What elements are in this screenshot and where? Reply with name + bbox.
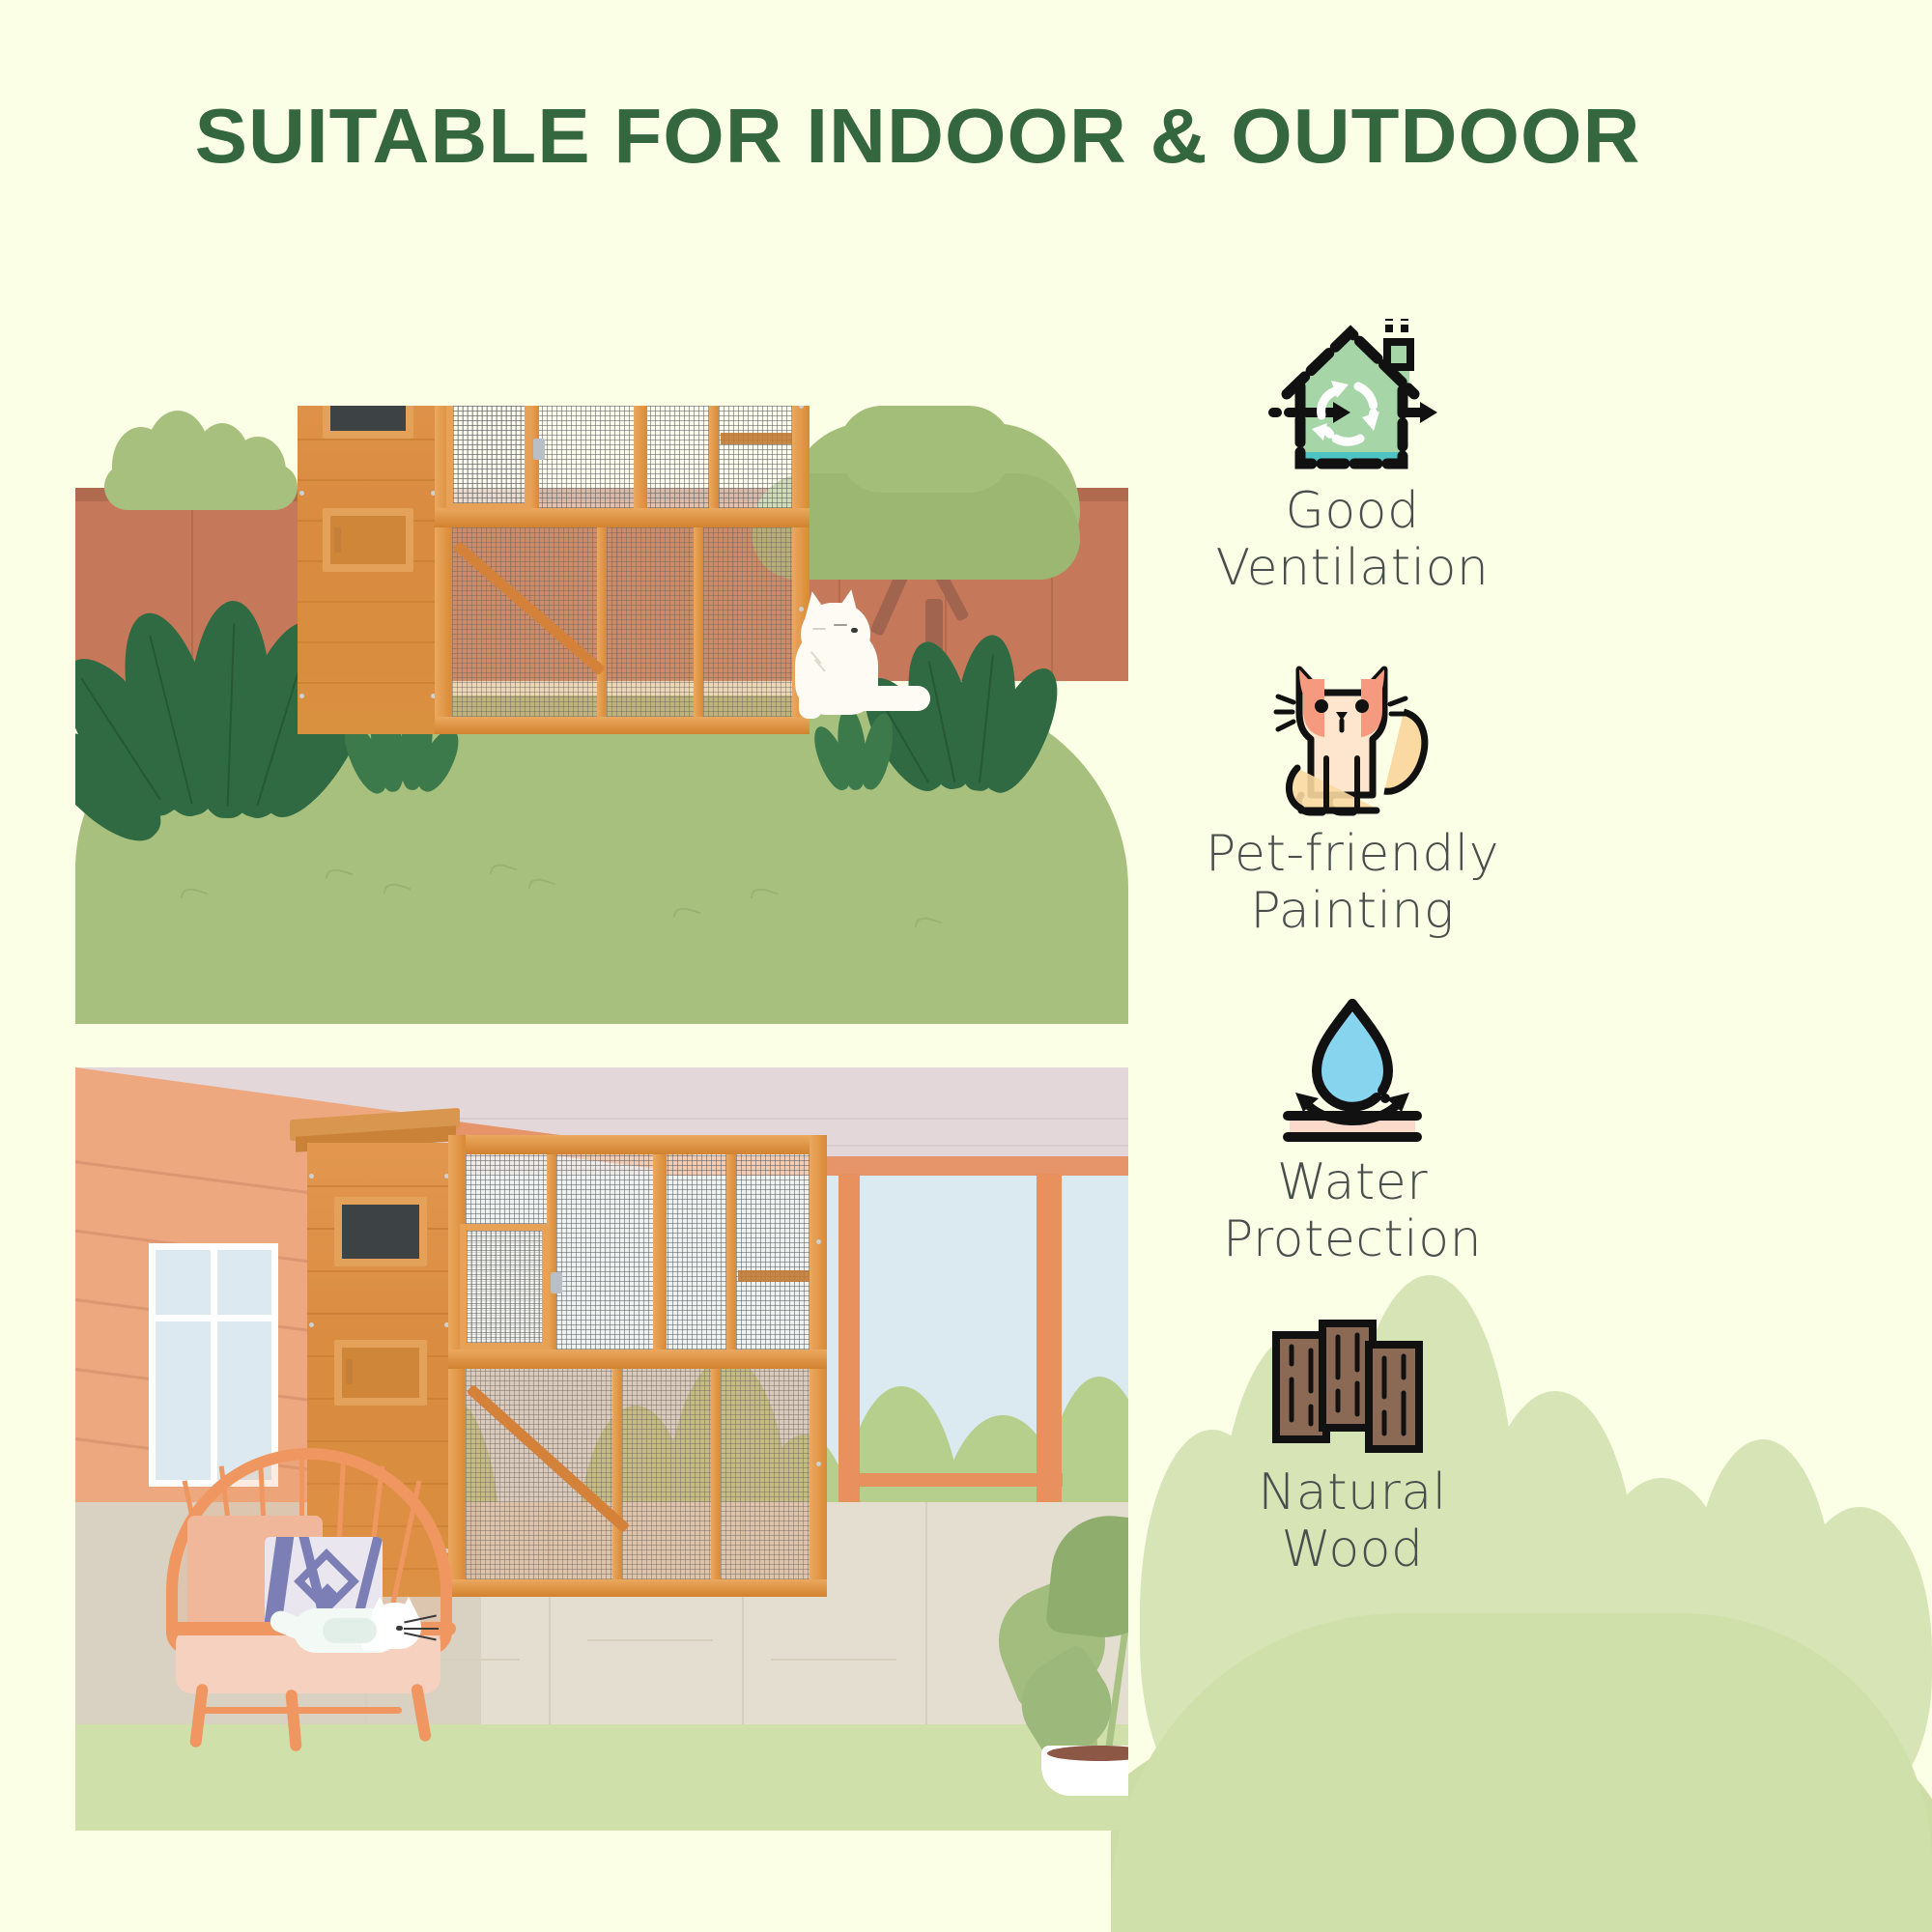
- wood-planks-icon: [1111, 1320, 1594, 1464]
- water-drop-icon: [1111, 990, 1594, 1154]
- outdoor-scene: [75, 406, 1128, 1024]
- feature-pet-friendly-painting: Pet-friendly Painting: [1111, 652, 1594, 941]
- run-access-door[interactable]: [446, 406, 531, 510]
- feature-good-ventilation: Good Ventilation: [1111, 319, 1594, 598]
- infographic-page: SUITABLE FOR INDOOR & OUTDOOR: [0, 0, 1932, 1932]
- white-cat-sitting: [783, 585, 933, 725]
- page-title: SUITABLE FOR INDOOR & OUTDOOR: [0, 92, 1854, 181]
- feature-label-pet-friendly: Pet-friendly Painting: [1111, 826, 1594, 941]
- feature-water-protection: Water Protection: [1111, 990, 1594, 1269]
- house-window-indoor: [342, 1205, 419, 1259]
- run-bottom-rail: [435, 717, 810, 734]
- sleeping-white-cat: [269, 1601, 442, 1668]
- cat-icon: [1111, 652, 1594, 826]
- rattan-chair: [156, 1448, 466, 1747]
- run-access-door-indoor[interactable]: [460, 1224, 549, 1350]
- feature-natural-wood: Natural Wood: [1111, 1320, 1594, 1579]
- run-mid-rail: [435, 508, 810, 527]
- indoor-scene: [75, 1067, 1128, 1831]
- house-window: [330, 406, 406, 431]
- feature-label-ventilation: Good Ventilation: [1111, 483, 1594, 598]
- monstera-plant: [993, 1483, 1128, 1802]
- house-ventilation-icon: [1111, 319, 1594, 483]
- cat-house-outdoor: [290, 406, 802, 829]
- feature-list: Good Ventilation: [1111, 319, 1594, 1578]
- door-latch: [533, 439, 545, 460]
- feature-label-water: Water Protection: [1111, 1154, 1594, 1269]
- feature-label-natural-wood: Natural Wood: [1111, 1464, 1594, 1579]
